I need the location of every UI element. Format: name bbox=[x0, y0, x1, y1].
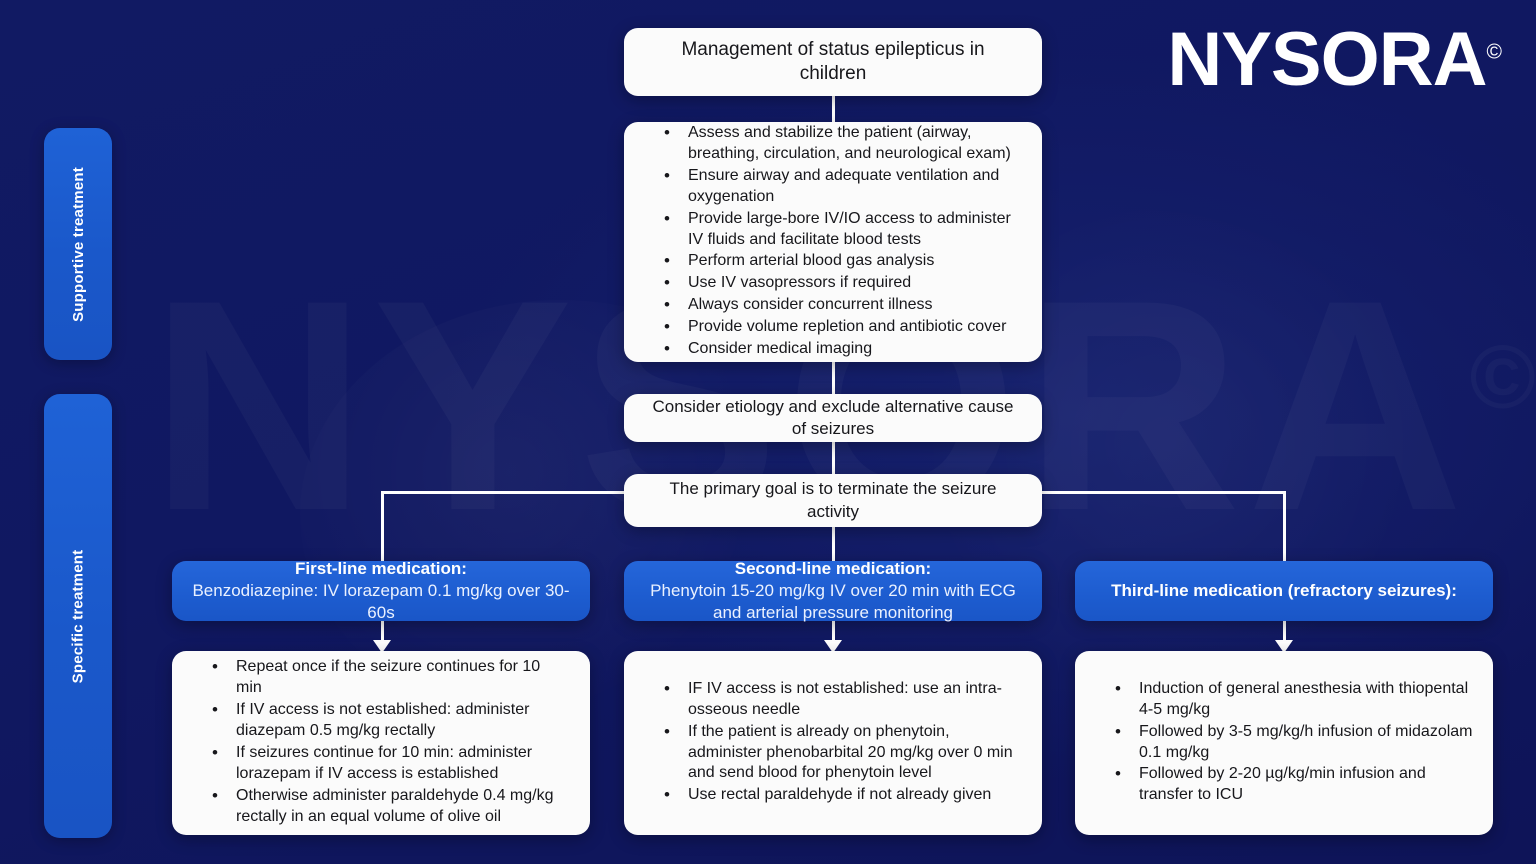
watermark-copyright-icon: © bbox=[1470, 328, 1536, 428]
title-card: Management of status epilepticus in chil… bbox=[624, 28, 1042, 96]
second-line-details-card: IF IV access is not established: use an … bbox=[624, 651, 1042, 835]
list-item: Perform arterial blood gas analysis bbox=[660, 251, 1022, 273]
second-line-body: Phenytoin 15-20 mg/kg IV over 20 min wit… bbox=[642, 580, 1024, 624]
copyright-icon: © bbox=[1487, 41, 1502, 64]
supportive-bullet-list: Assess and stabilize the patient (airway… bbox=[640, 123, 1022, 361]
connector-branch-drop-right bbox=[1283, 491, 1286, 561]
second-line-title: Second-line medication: bbox=[735, 558, 931, 580]
logo-wordmark: NYSORA bbox=[1167, 17, 1486, 102]
list-item: If the patient is already on phenytoin, … bbox=[660, 722, 1022, 786]
nysora-logo: NYSORA© bbox=[1167, 22, 1502, 98]
third-line-bullet-list: Induction of general anesthesia with thi… bbox=[1091, 679, 1473, 808]
first-line-medication-card: First-line medication: Benzodiazepine: I… bbox=[172, 561, 590, 621]
page-title: Management of status epilepticus in chil… bbox=[646, 38, 1020, 87]
connector-branch-rail-left bbox=[381, 491, 625, 494]
third-line-details-card: Induction of general anesthesia with thi… bbox=[1075, 651, 1493, 835]
etiology-text: Consider etiology and exclude alternativ… bbox=[646, 396, 1020, 440]
supportive-treatment-card: Assess and stabilize the patient (airway… bbox=[624, 122, 1042, 362]
first-line-title: First-line medication: bbox=[295, 558, 467, 580]
second-line-bullet-list: IF IV access is not established: use an … bbox=[640, 679, 1022, 808]
flowchart-canvas: NYSORA© NYSORA© Supportive treatment Spe… bbox=[0, 0, 1536, 864]
connector-title-to-supportive bbox=[832, 95, 835, 125]
list-item: If IV access is not established: adminis… bbox=[208, 700, 570, 743]
first-line-body: Benzodiazepine: IV lorazepam 0.1 mg/kg o… bbox=[190, 580, 572, 624]
second-line-medication-card: Second-line medication: Phenytoin 15-20 … bbox=[624, 561, 1042, 621]
list-item: Assess and stabilize the patient (airway… bbox=[660, 123, 1022, 166]
connector-supportive-to-etiology bbox=[832, 362, 835, 394]
primary-goal-text: The primary goal is to terminate the sei… bbox=[646, 478, 1020, 522]
list-item: If seizures continue for 10 min: adminis… bbox=[208, 743, 570, 786]
list-item: Repeat once if the seizure continues for… bbox=[208, 657, 570, 700]
connector-second-line-to-details bbox=[832, 621, 835, 646]
connector-first-line-to-details bbox=[381, 621, 384, 646]
first-line-bullet-list: Repeat once if the seizure continues for… bbox=[188, 657, 570, 829]
phase-tab-label: Specific treatment bbox=[70, 549, 87, 683]
list-item: Followed by 3-5 mg/kg/h infusion of mida… bbox=[1111, 722, 1473, 765]
list-item: Ensure airway and adequate ventilation a… bbox=[660, 166, 1022, 209]
phase-tab-label: Supportive treatment bbox=[70, 167, 87, 322]
list-item: Otherwise administer paraldehyde 0.4 mg/… bbox=[208, 786, 570, 829]
list-item: IF IV access is not established: use an … bbox=[660, 679, 1022, 722]
list-item: Provide large-bore IV/IO access to admin… bbox=[660, 209, 1022, 252]
connector-branch-drop-left bbox=[381, 491, 384, 561]
etiology-card: Consider etiology and exclude alternativ… bbox=[624, 394, 1042, 442]
list-item: Induction of general anesthesia with thi… bbox=[1111, 679, 1473, 722]
connector-branch-drop-center bbox=[832, 527, 835, 561]
connector-branch-rail-right bbox=[1041, 491, 1285, 494]
list-item: Consider medical imaging bbox=[660, 339, 1022, 361]
first-line-details-card: Repeat once if the seizure continues for… bbox=[172, 651, 590, 835]
list-item: Provide volume repletion and antibiotic … bbox=[660, 317, 1022, 339]
third-line-medication-card: Third-line medication (refractory seizur… bbox=[1075, 561, 1493, 621]
list-item: Use rectal paraldehyde if not already gi… bbox=[660, 785, 1022, 807]
primary-goal-card: The primary goal is to terminate the sei… bbox=[624, 474, 1042, 527]
phase-tab-supportive-treatment: Supportive treatment bbox=[44, 128, 112, 360]
list-item: Followed by 2-20 µg/kg/min infusion and … bbox=[1111, 764, 1473, 807]
phase-tab-specific-treatment: Specific treatment bbox=[44, 394, 112, 838]
list-item: Use IV vasopressors if required bbox=[660, 273, 1022, 295]
connector-etiology-to-goal bbox=[832, 442, 835, 474]
third-line-title: Third-line medication (refractory seizur… bbox=[1111, 580, 1457, 602]
list-item: Always consider concurrent illness bbox=[660, 295, 1022, 317]
connector-third-line-to-details bbox=[1283, 621, 1286, 646]
